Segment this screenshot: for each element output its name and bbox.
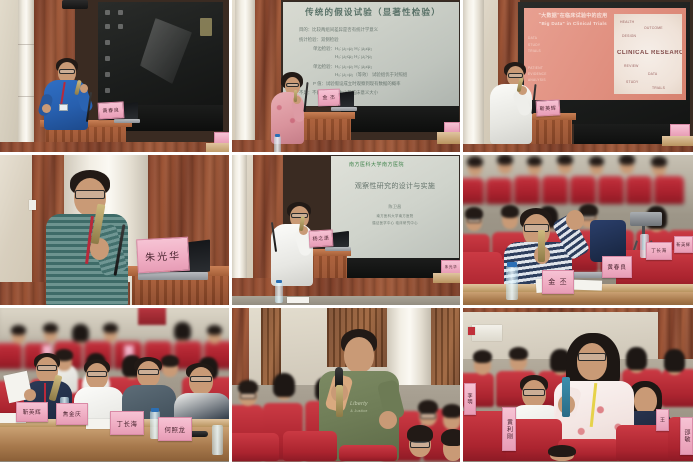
microphone-body — [336, 385, 343, 417]
seat-name-card: 黄利刚 — [502, 407, 516, 451]
desktop-icon — [105, 56, 110, 61]
eyeglasses — [578, 353, 606, 361]
name-placard: 杨之潇 — [309, 229, 334, 247]
eyeglasses — [410, 441, 430, 448]
microphone — [562, 377, 570, 417]
slide-bullet: 单边检验：H₀: μ₁=μ₂ H₁: μ₁≠μ₂ — [313, 46, 372, 53]
projector-camera — [630, 212, 662, 226]
eyeglasses — [75, 190, 105, 199]
grid-gutter-vertical — [229, 0, 232, 462]
eyeglasses — [59, 69, 75, 74]
seat — [283, 431, 337, 461]
water-bottle — [275, 282, 283, 303]
name-placard: 朱光华 — [136, 237, 190, 274]
side-desk — [662, 136, 693, 146]
wordcloud-term: HEALTH — [620, 20, 634, 24]
seat-name-card: 邵敏 — [680, 417, 693, 455]
photo-scene-9: 李明 黄利刚 王 邵敏 — [462, 307, 693, 462]
name-placard: 丁长海 — [646, 242, 672, 260]
slide-subtitle: "Big Data" in Clinical Trials — [528, 21, 618, 27]
pillar-seam — [18, 96, 34, 97]
slide-affiliation-line: TRIALS — [528, 49, 602, 53]
ceiling-speaker — [62, 0, 88, 9]
slide-presenter: 陈卫昌 — [335, 204, 455, 209]
curtain — [429, 307, 462, 385]
pillar — [18, 0, 34, 154]
wordcloud-main-term: CLINICAL RESEARCH — [617, 50, 682, 56]
slide-affiliation-line: ANALYSIS — [528, 78, 608, 82]
slide-title: 观察性研究的设计与实施 — [335, 182, 455, 191]
attendee-hair-front — [548, 445, 576, 457]
name-placard: 金 丕 — [318, 89, 341, 107]
collage-photo-7[interactable]: 靳英辉 焦金庆 丁长海 何照龙 — [0, 307, 231, 462]
speaker-hand-right — [80, 84, 88, 93]
wall-switch — [29, 200, 36, 210]
panelist-hand — [24, 389, 36, 401]
slide-bullet: H₀: μ₁=μ₂（等效） 试验组优于对照组 — [335, 72, 407, 79]
collage-photo-8[interactable]: Liberty & Justice — [231, 307, 462, 462]
speaker-hand-left — [42, 104, 51, 113]
bottle-cap — [151, 408, 159, 412]
desktop-widget — [200, 18, 212, 36]
seat — [339, 445, 397, 461]
slide-affiliation: 南方医科大学南方医院 — [335, 214, 455, 219]
wordcloud-term: OUTCOME — [644, 26, 663, 30]
name-placard: 靳英辉 — [16, 402, 48, 422]
wordcloud-graphic: HEALTH OUTCOME DESIGN CLINICAL RESEARCH … — [614, 14, 682, 94]
papers — [287, 297, 309, 303]
bottle-cap — [275, 134, 280, 137]
laptop-base — [325, 247, 351, 251]
slide-bullet: P 值：试验假设成立时观察到现有数据的概率 — [313, 81, 401, 88]
eyeglasses — [291, 213, 308, 218]
microphone — [294, 90, 297, 102]
university-logo: 南方医科大学南方医院 — [349, 161, 404, 168]
name-placard: 黄春良 — [98, 101, 125, 119]
desktop-icon — [105, 24, 110, 29]
eyeglasses — [190, 376, 212, 382]
photo-scene-8: Liberty & Justice — [231, 307, 462, 462]
microphone — [538, 230, 545, 262]
eyeglasses — [87, 371, 107, 377]
wordcloud-term: REVIEW — [624, 64, 639, 68]
name-placard: 靳英辉 — [536, 99, 561, 116]
wordcloud-term: DATA — [648, 72, 657, 76]
collage-photo-2[interactable]: 传统的假设试验（显著性检验） 目的：比较两组间差异是否有统计学意义 统计检验：双… — [231, 0, 462, 154]
speaker-hand-right — [379, 411, 397, 429]
grid-gutter-vertical — [460, 0, 463, 462]
speaker-hand-raised — [566, 210, 584, 230]
slide-bullet: 单边检验：H₀: μ₁=μ₂ H₁: μ₁≠μ₂ — [313, 64, 372, 71]
laptop-base — [114, 119, 140, 123]
speaker-head — [577, 343, 607, 380]
speaker-head — [344, 337, 374, 373]
collage-photo-6[interactable]: 金 丕 黄春良 丁长海 靳英辉 — [462, 154, 693, 307]
wordcloud-term: TRIALS — [652, 86, 665, 90]
bottle-cap — [507, 262, 517, 267]
photo-scene-1: 黄春良 — [0, 0, 231, 154]
name-placard: 何照龙 — [158, 417, 192, 441]
slide-bullet: 统计检验：双侧检验 — [299, 37, 339, 44]
screen-bottom-bar — [341, 106, 459, 132]
grid-gutter-horizontal — [0, 305, 693, 308]
attendee-hair — [441, 429, 462, 446]
slide-bullet: 目的：比较两组间差异是否有统计学意义 — [299, 27, 378, 34]
grid-gutter-horizontal — [0, 152, 693, 155]
photo-scene-4: 朱光华 — [0, 154, 231, 307]
desktop-icon — [105, 88, 110, 93]
name-placard: 焦金庆 — [56, 403, 88, 425]
slide-affiliation-line: STUDY — [528, 43, 602, 47]
desktop-icon — [118, 10, 123, 15]
side-desk — [433, 273, 462, 283]
name-placard-side: 朱光华 — [441, 260, 461, 274]
desktop-icon — [105, 10, 110, 15]
eyeglasses — [523, 389, 545, 396]
seat — [231, 433, 279, 461]
wordcloud-term: DESIGN — [622, 34, 636, 38]
bottle-cap — [276, 280, 282, 283]
slide-affiliation: 循证医学中心 临床研究中心 — [335, 221, 455, 226]
slide-presenter: DATA — [528, 36, 598, 40]
collage-photo-1[interactable]: 黄春良 — [0, 0, 231, 154]
pillar-seam — [18, 44, 34, 45]
photo-scene-3: "大数据"在临床试验中的应用 "Big Data" in Clinical Tr… — [462, 0, 693, 154]
attendee-head — [634, 387, 657, 414]
name-placard: 金 丕 — [542, 270, 574, 294]
desktop-icon — [118, 24, 123, 29]
collage-photo-3[interactable]: "大数据"在临床试验中的应用 "Big Data" in Clinical Tr… — [462, 0, 693, 154]
eyeglasses — [524, 224, 549, 232]
slide-affiliation-line: EVIDENCE — [528, 72, 608, 76]
name-placard: 靳英辉 — [674, 236, 693, 253]
collage-photo-4[interactable]: 朱光华 — [0, 154, 231, 307]
side-desk — [437, 132, 462, 144]
podium-front — [132, 276, 231, 307]
photo-collage: 黄春良 传统的假设试验（显著性检验） 目的：比较两组间差异是否有统计学意义 统计… — [0, 0, 693, 462]
exit-marker — [468, 327, 475, 335]
eyeglasses — [286, 83, 299, 87]
desktop-icon — [105, 40, 110, 45]
photo-scene-7: 靳英辉 焦金庆 丁长海 何照龙 — [0, 307, 231, 462]
collage-photo-9[interactable]: 李明 黄利刚 王 邵敏 — [462, 307, 693, 462]
stone-wall — [0, 0, 18, 154]
photo-scene-5: 南方医科大学南方医院 观察性研究的设计与实施 陈卫昌 南方医科大学南方医院 循证… — [231, 154, 462, 307]
pillar — [235, 0, 255, 154]
water-bottle — [506, 266, 518, 300]
name-placard: 黄春良 — [602, 256, 632, 278]
photo-scene-2: 传统的假设试验（显著性检验） 目的：比较两组间差异是否有统计学意义 统计检验：双… — [231, 0, 462, 154]
eyeglasses — [37, 365, 57, 371]
seat-name-card: 王 — [656, 409, 669, 431]
microphone — [335, 367, 343, 387]
water-bottle — [212, 425, 223, 455]
pillar — [462, 0, 484, 154]
collage-photo-5[interactable]: 南方医科大学南方医院 观察性研究的设计与实施 陈卫昌 南方医科大学南方医院 循证… — [231, 154, 462, 307]
badge — [59, 104, 68, 111]
eyeglasses — [138, 369, 159, 375]
laptop-base — [331, 107, 357, 111]
seat-name-card: 李明 — [464, 383, 476, 415]
slide-bullet: H₀: μ₁≤μ₂ H₁: μ₁>μ₂ — [335, 54, 372, 61]
laptop-base — [138, 272, 208, 280]
wall-sign — [472, 325, 502, 341]
desktop-icon — [105, 72, 110, 77]
slide-affiliation-line: PATIENT — [528, 66, 608, 70]
slide-title: 传统的假设试验（显著性检验） — [295, 7, 451, 18]
slide-title: "大数据"在临床试验中的应用 — [528, 13, 618, 20]
name-placard: 丁长海 — [110, 411, 144, 435]
photo-scene-6: 金 丕 黄春良 丁长海 靳英辉 — [462, 154, 693, 307]
wordcloud-term: STUDY — [626, 80, 639, 84]
